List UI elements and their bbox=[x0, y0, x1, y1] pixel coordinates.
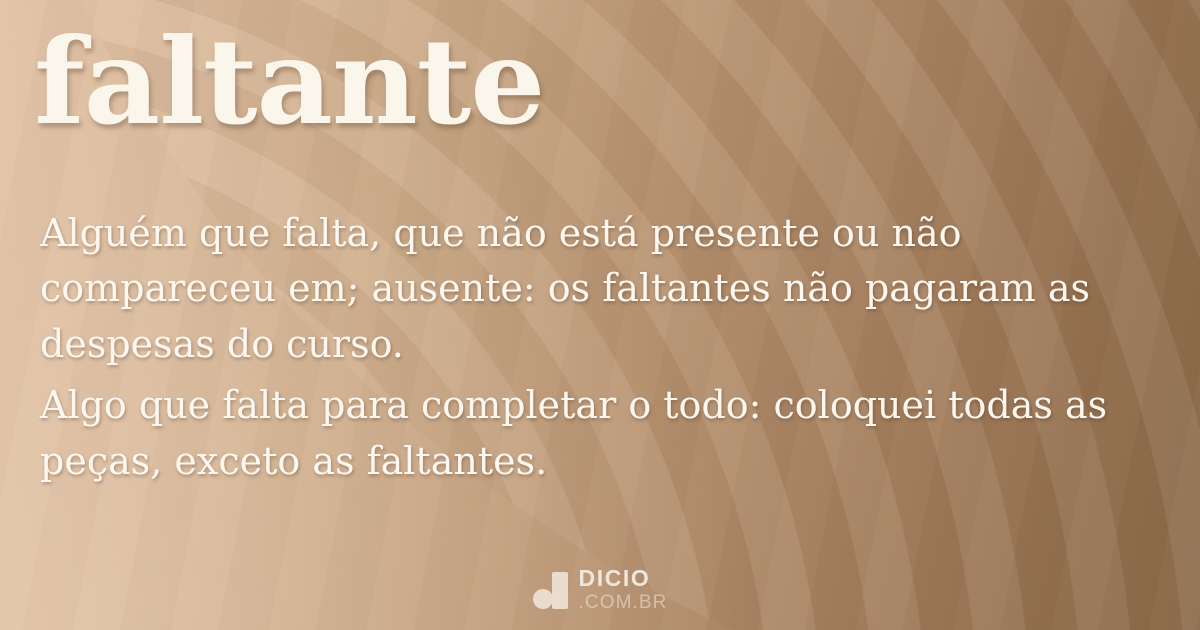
dicio-share-card: faltante Alguém que falta, que não está … bbox=[0, 0, 1200, 630]
dicio-logo: DICIO .COM.BR bbox=[0, 567, 1200, 612]
page-title: faltante bbox=[34, 18, 544, 145]
dicio-logo-mark-icon bbox=[533, 571, 568, 609]
logo-circle-shape bbox=[533, 589, 553, 609]
logo-domain-suffix: .COM.BR bbox=[579, 593, 668, 612]
definition-item: Algo que falta para completar o todo: co… bbox=[40, 378, 1145, 489]
definition-list: Alguém que falta, que não está presente … bbox=[40, 206, 1145, 489]
definition-item: Alguém que falta, que não está presente … bbox=[40, 206, 1145, 372]
dicio-logo-text: DICIO .COM.BR bbox=[579, 567, 668, 612]
card-content: faltante Alguém que falta, que não está … bbox=[0, 0, 1200, 630]
logo-brand-name: DICIO bbox=[579, 567, 668, 590]
logo-bar-shape bbox=[552, 572, 568, 609]
